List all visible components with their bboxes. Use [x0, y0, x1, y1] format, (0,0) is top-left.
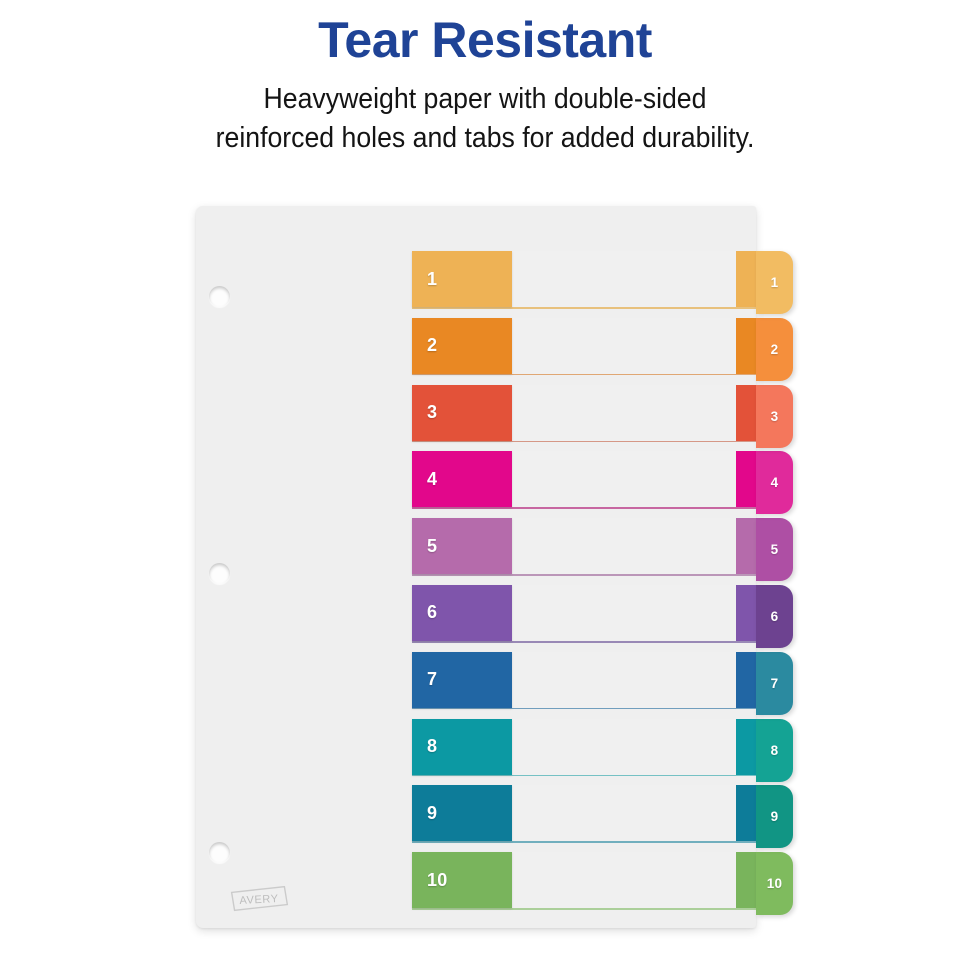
divider-row-list: 1122334455667788991010 — [412, 251, 756, 920]
divider-tab-number: 8 — [771, 743, 779, 758]
divider-tab-number: 5 — [771, 542, 779, 557]
divider-number-block: 1 — [412, 251, 512, 307]
divider-number-block: 3 — [412, 385, 512, 441]
divider-number-block: 7 — [412, 652, 512, 708]
divider-row: 66 — [412, 585, 756, 652]
divider-row: 77 — [412, 652, 756, 719]
divider-edge-strip — [736, 518, 756, 574]
punch-hole-icon — [209, 286, 230, 307]
divider-number-block: 4 — [412, 451, 512, 507]
subtitle: Heavyweight paper with double-sided rein… — [32, 80, 939, 158]
divider-tab[interactable]: 10 — [756, 852, 793, 915]
divider-edge-strip — [736, 852, 756, 908]
divider-tab[interactable]: 7 — [756, 652, 793, 715]
divider-sheet-illustration: AVERY 1122334455667788991010 — [196, 206, 796, 936]
divider-rule — [412, 908, 756, 910]
divider-number-label: 9 — [412, 803, 437, 824]
divider-number-label: 6 — [412, 602, 437, 623]
divider-number-block: 10 — [412, 852, 512, 908]
divider-tab-number: 7 — [771, 676, 779, 691]
divider-rule — [412, 441, 756, 443]
divider-edge-strip — [736, 318, 756, 374]
divider-number-label: 3 — [412, 402, 437, 423]
divider-edge-strip — [736, 785, 756, 841]
divider-number-label: 5 — [412, 536, 437, 557]
divider-rule — [412, 775, 756, 777]
divider-edge-strip — [736, 719, 756, 775]
divider-number-block: 8 — [412, 719, 512, 775]
subtitle-line-2: reinforced holes and tabs for added dura… — [32, 119, 939, 158]
divider-number-label: 10 — [412, 870, 447, 891]
divider-tab[interactable]: 5 — [756, 518, 793, 581]
divider-tab-number: 6 — [771, 609, 779, 624]
divider-number-label: 8 — [412, 736, 437, 757]
punch-hole-icon — [209, 842, 230, 863]
divider-number-label: 2 — [412, 335, 437, 356]
divider-edge-strip — [736, 385, 756, 441]
avery-logo-icon: AVERY — [228, 886, 290, 912]
divider-number-label: 7 — [412, 669, 437, 690]
divider-tab-number: 4 — [771, 475, 779, 490]
divider-tab-number: 9 — [771, 809, 779, 824]
divider-rule — [412, 307, 756, 309]
divider-rule — [412, 708, 756, 710]
divider-row: 55 — [412, 518, 756, 585]
divider-row: 88 — [412, 719, 756, 786]
product-image: Tear Resistant Heavyweight paper with do… — [0, 0, 970, 971]
divider-tab[interactable]: 6 — [756, 585, 793, 648]
divider-row: 99 — [412, 785, 756, 852]
divider-number-block: 6 — [412, 585, 512, 641]
subtitle-line-1: Heavyweight paper with double-sided — [32, 80, 939, 119]
divider-tab[interactable]: 2 — [756, 318, 793, 381]
divider-number-block: 9 — [412, 785, 512, 841]
divider-number-label: 1 — [412, 269, 437, 290]
page-title: Tear Resistant — [0, 12, 970, 68]
divider-rule — [412, 841, 756, 843]
divider-row: 1010 — [412, 852, 756, 919]
svg-text:AVERY: AVERY — [239, 893, 279, 907]
divider-tab[interactable]: 8 — [756, 719, 793, 782]
divider-tab[interactable]: 1 — [756, 251, 793, 314]
divider-tab-number: 10 — [767, 876, 782, 891]
divider-number-block: 2 — [412, 318, 512, 374]
divider-rule — [412, 507, 756, 509]
divider-edge-strip — [736, 652, 756, 708]
divider-edge-strip — [736, 585, 756, 641]
divider-rule — [412, 574, 756, 576]
divider-tab[interactable]: 9 — [756, 785, 793, 848]
divider-row: 33 — [412, 385, 756, 452]
divider-row: 11 — [412, 251, 756, 318]
divider-tab-number: 2 — [771, 342, 779, 357]
divider-number-block: 5 — [412, 518, 512, 574]
punch-hole-icon — [209, 563, 230, 584]
divider-edge-strip — [736, 251, 756, 307]
divider-tab-number: 3 — [771, 409, 779, 424]
header: Tear Resistant Heavyweight paper with do… — [0, 0, 970, 158]
divider-number-label: 4 — [412, 469, 437, 490]
divider-row: 44 — [412, 451, 756, 518]
divider-tab[interactable]: 4 — [756, 451, 793, 514]
divider-tab-number: 1 — [771, 275, 779, 290]
divider-rule — [412, 641, 756, 643]
divider-tab[interactable]: 3 — [756, 385, 793, 448]
divider-rule — [412, 374, 756, 376]
divider-edge-strip — [736, 451, 756, 507]
divider-row: 22 — [412, 318, 756, 385]
